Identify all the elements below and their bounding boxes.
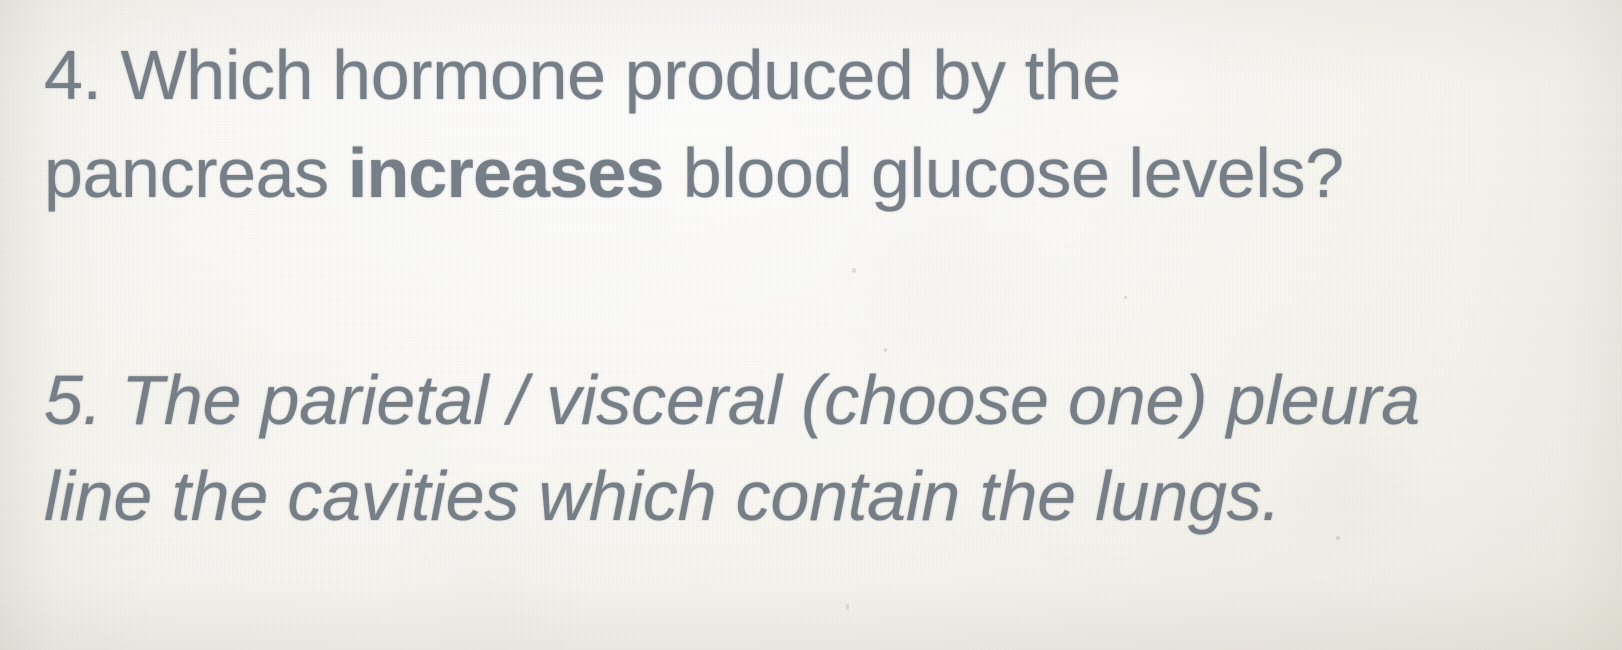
question-5-line-1: 5. The parietal / visceral (choose one) … [44,352,1420,448]
question-4-line-2-suffix: blood glucose levels? [664,134,1344,212]
question-4: 4. Which hormone produced by the pancrea… [44,26,1344,222]
question-4-emphasis-increases: increases [348,134,664,212]
question-list: 4. Which hormone produced by the pancrea… [0,0,1622,650]
question-4-line-2: pancreas increases blood glucose levels? [44,124,1344,222]
question-5: 5. The parietal / visceral (choose one) … [44,352,1420,544]
worksheet-photo: 4. Which hormone produced by the pancrea… [0,0,1622,650]
question-4-line-2-prefix: pancreas [44,134,348,212]
question-4-line-1: 4. Which hormone produced by the [44,26,1344,124]
question-5-line-2: line the cavities which contain the lung… [44,448,1420,544]
